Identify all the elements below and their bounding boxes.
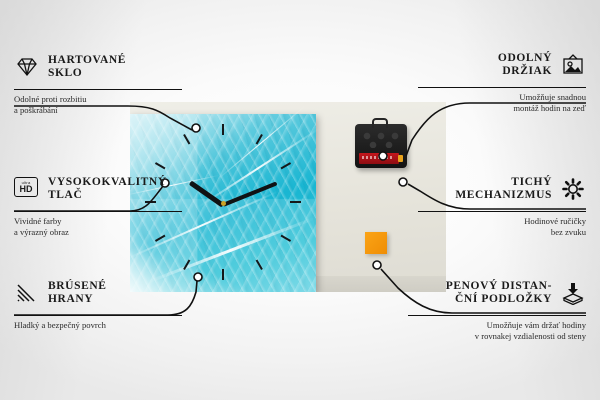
clock-tick (290, 201, 301, 203)
feature-divider (14, 89, 182, 90)
feature-title-line1: VYSOKOKVALITNÝ (48, 176, 167, 189)
feature-foam-spacers: PENOVÝ DISTAN- ČNÍ PODLOŽKY Umožňuje vám… (408, 276, 586, 342)
feature-title-line1: BRÚSENÉ (48, 280, 107, 293)
feature-subtitle: Odolné proti rozbitiu a poškrábání (14, 94, 182, 116)
feature-sub-line1: Umožňuje vám držať hodiny (408, 320, 586, 331)
ultra-hd-box: ultra HD (14, 177, 38, 197)
feature-divider (408, 315, 586, 316)
feature-divider (14, 315, 182, 316)
ultra-hd-main-label: HD (20, 185, 33, 194)
feature-title-line1: HARTOVANÉ (48, 54, 126, 67)
feature-divider (14, 211, 182, 212)
feature-title-line2: ČNÍ PODLOŽKY (446, 293, 552, 306)
feature-header: ODOLNÝ DRŽIAK (418, 48, 586, 82)
feature-subtitle: Umožňuje vám držať hodiny v rovnakej vzd… (408, 320, 586, 342)
clock-center-pin (221, 201, 226, 206)
ground-edges-icon (14, 281, 40, 305)
feature-header: PENOVÝ DISTAN- ČNÍ PODLOŽKY (408, 276, 586, 310)
foam-spacer-pad (365, 232, 387, 254)
feature-title: HARTOVANÉ SKLO (48, 54, 126, 80)
feature-subtitle: Hladký a bezpečný povrch (14, 320, 182, 331)
mechanism-body (361, 132, 401, 148)
feature-subtitle: Hodinové ručičky bez zvuku (418, 216, 586, 238)
feature-title: VYSOKOKVALITNÝ TLAČ (48, 176, 167, 202)
feature-title-line1: TICHÝ (455, 176, 552, 189)
feature-sub-line1: Hladký a bezpečný povrch (14, 320, 182, 331)
clock-mechanism (355, 124, 407, 168)
feature-sub-line2: bez zvuku (418, 227, 586, 238)
feature-title: ODOLNÝ DRŽIAK (498, 52, 552, 78)
foam-spacer-icon (560, 281, 586, 305)
feature-sub-line1: Umožňuje snadnou (418, 92, 586, 103)
feature-title-line2: TLAČ (48, 189, 167, 202)
feature-header: ultra HD VYSOKOKVALITNÝ TLAČ (14, 172, 182, 206)
ultra-hd-icon: ultra HD (14, 177, 40, 201)
feature-tempered-glass: HARTOVANÉ SKLO Odolné proti rozbitiu a p… (14, 50, 182, 116)
feature-sub-line1: Odolné proti rozbitiu (14, 94, 182, 105)
feature-high-quality-print: ultra HD VYSOKOKVALITNÝ TLAČ Vividné far… (14, 172, 182, 238)
feature-subtitle: Umožňuje snadnou montáž hodin na zeď (418, 92, 586, 114)
battery-label (362, 156, 393, 159)
feature-durable-hanger: ODOLNÝ DRŽIAK Umožňuje snadnou montáž ho… (418, 48, 586, 114)
feature-sub-line1: Hodinové ručičky (418, 216, 586, 227)
feature-divider (418, 87, 586, 88)
clock-tick (222, 269, 224, 280)
feature-header: TICHÝ MECHANIZMUS (418, 172, 586, 206)
feature-sub-line2: montáž hodin na zeď (418, 103, 586, 114)
feature-subtitle: Vividné farby a výrazný obraz (14, 216, 182, 238)
feature-title-line2: DRŽIAK (498, 65, 552, 78)
battery (359, 153, 399, 164)
feature-title-line2: SKLO (48, 67, 126, 80)
feature-header: HARTOVANÉ SKLO (14, 50, 182, 84)
mechanism-hanger-hook (372, 118, 388, 128)
feature-sub-line2: v rovnakej vzdialenosti od steny (408, 331, 586, 342)
gear-icon (560, 177, 586, 201)
feature-title-line1: PENOVÝ DISTAN- (446, 280, 552, 293)
feature-silent-mechanism: TICHÝ MECHANIZMUS Hodinové ručičky bez z… (418, 172, 586, 238)
feature-title: BRÚSENÉ HRANY (48, 280, 107, 306)
feature-header: BRÚSENÉ HRANY (14, 276, 182, 310)
feature-ground-edges: BRÚSENÉ HRANY Hladký a bezpečný povrch (14, 276, 182, 331)
clock-tick (222, 124, 224, 135)
feature-title: TICHÝ MECHANIZMUS (455, 176, 552, 202)
feature-sub-line2: a výrazný obraz (14, 227, 182, 238)
feature-title: PENOVÝ DISTAN- ČNÍ PODLOŽKY (446, 280, 552, 306)
feature-title-line2: MECHANIZMUS (455, 189, 552, 202)
feature-title-line1: ODOLNÝ (498, 52, 552, 65)
feature-sub-line1: Vividné farby (14, 216, 182, 227)
picture-hanger-icon (560, 53, 586, 77)
feature-sub-line2: a poškrábání (14, 105, 182, 116)
feature-title-line2: HRANY (48, 293, 107, 306)
diamond-icon (14, 55, 40, 79)
feature-divider (418, 211, 586, 212)
